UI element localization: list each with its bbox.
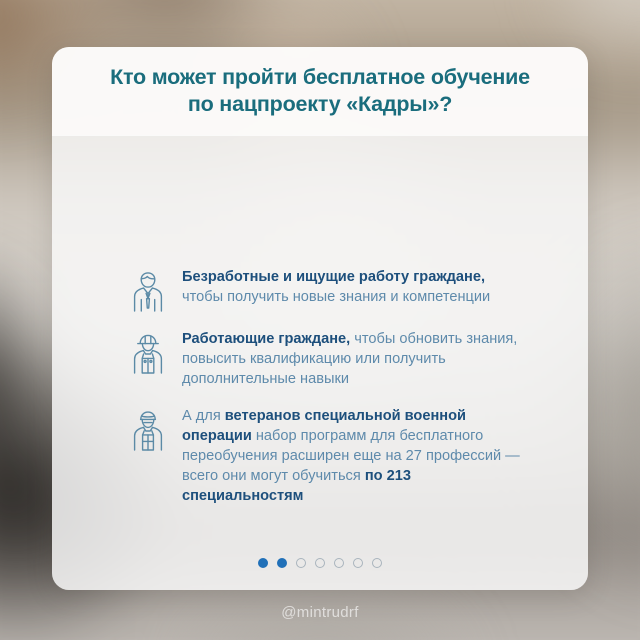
pagination-dot-5[interactable] <box>334 558 344 568</box>
bullet-list: Безработные и ищущие работу граждане, чт… <box>128 267 528 507</box>
card-body: Безработные и ищущие работу граждане, чт… <box>52 135 588 590</box>
pagination-dot-2[interactable] <box>277 558 287 568</box>
list-item-text: Безработные и ищущие работу граждане, чт… <box>182 267 528 308</box>
watermark: @mintrudrf <box>0 604 640 621</box>
pagination-dot-1[interactable] <box>258 558 268 568</box>
pagination-dot-7[interactable] <box>372 558 382 568</box>
pagination-dots[interactable] <box>52 558 588 568</box>
page-title-line-1: Кто может пройти бесплатное обучение <box>110 65 530 89</box>
construction-worker-icon <box>128 331 168 375</box>
veteran-worker-icon <box>128 408 168 452</box>
list-item-prefix: А для <box>182 408 225 424</box>
pagination-dot-3[interactable] <box>296 558 306 568</box>
list-item: Безработные и ищущие работу граждане, чт… <box>128 267 528 313</box>
card-header: Кто может пройти бесплатное обучение по … <box>52 47 588 135</box>
list-item-rest: чтобы получить новые знания и компетенци… <box>182 289 490 305</box>
list-item-text: А для ветеранов специальной военной опер… <box>182 406 528 507</box>
list-item-lead: Работающие граждане, <box>182 331 350 347</box>
list-item: А для ветеранов специальной военной опер… <box>128 406 528 507</box>
slide-card: Кто может пройти бесплатное обучение по … <box>52 47 588 590</box>
list-item: Работающие граждане, чтобы обновить знан… <box>128 329 528 390</box>
page-title-line-2: по нацпроекту «Кадры»? <box>188 92 452 116</box>
list-item-text: Работающие граждане, чтобы обновить знан… <box>182 329 528 390</box>
pagination-dot-4[interactable] <box>315 558 325 568</box>
office-worker-icon <box>128 269 168 313</box>
page-title: Кто может пройти бесплатное обучение по … <box>110 64 530 118</box>
list-item-lead: Безработные и ищущие работу граждане, <box>182 269 485 285</box>
pagination-dot-6[interactable] <box>353 558 363 568</box>
